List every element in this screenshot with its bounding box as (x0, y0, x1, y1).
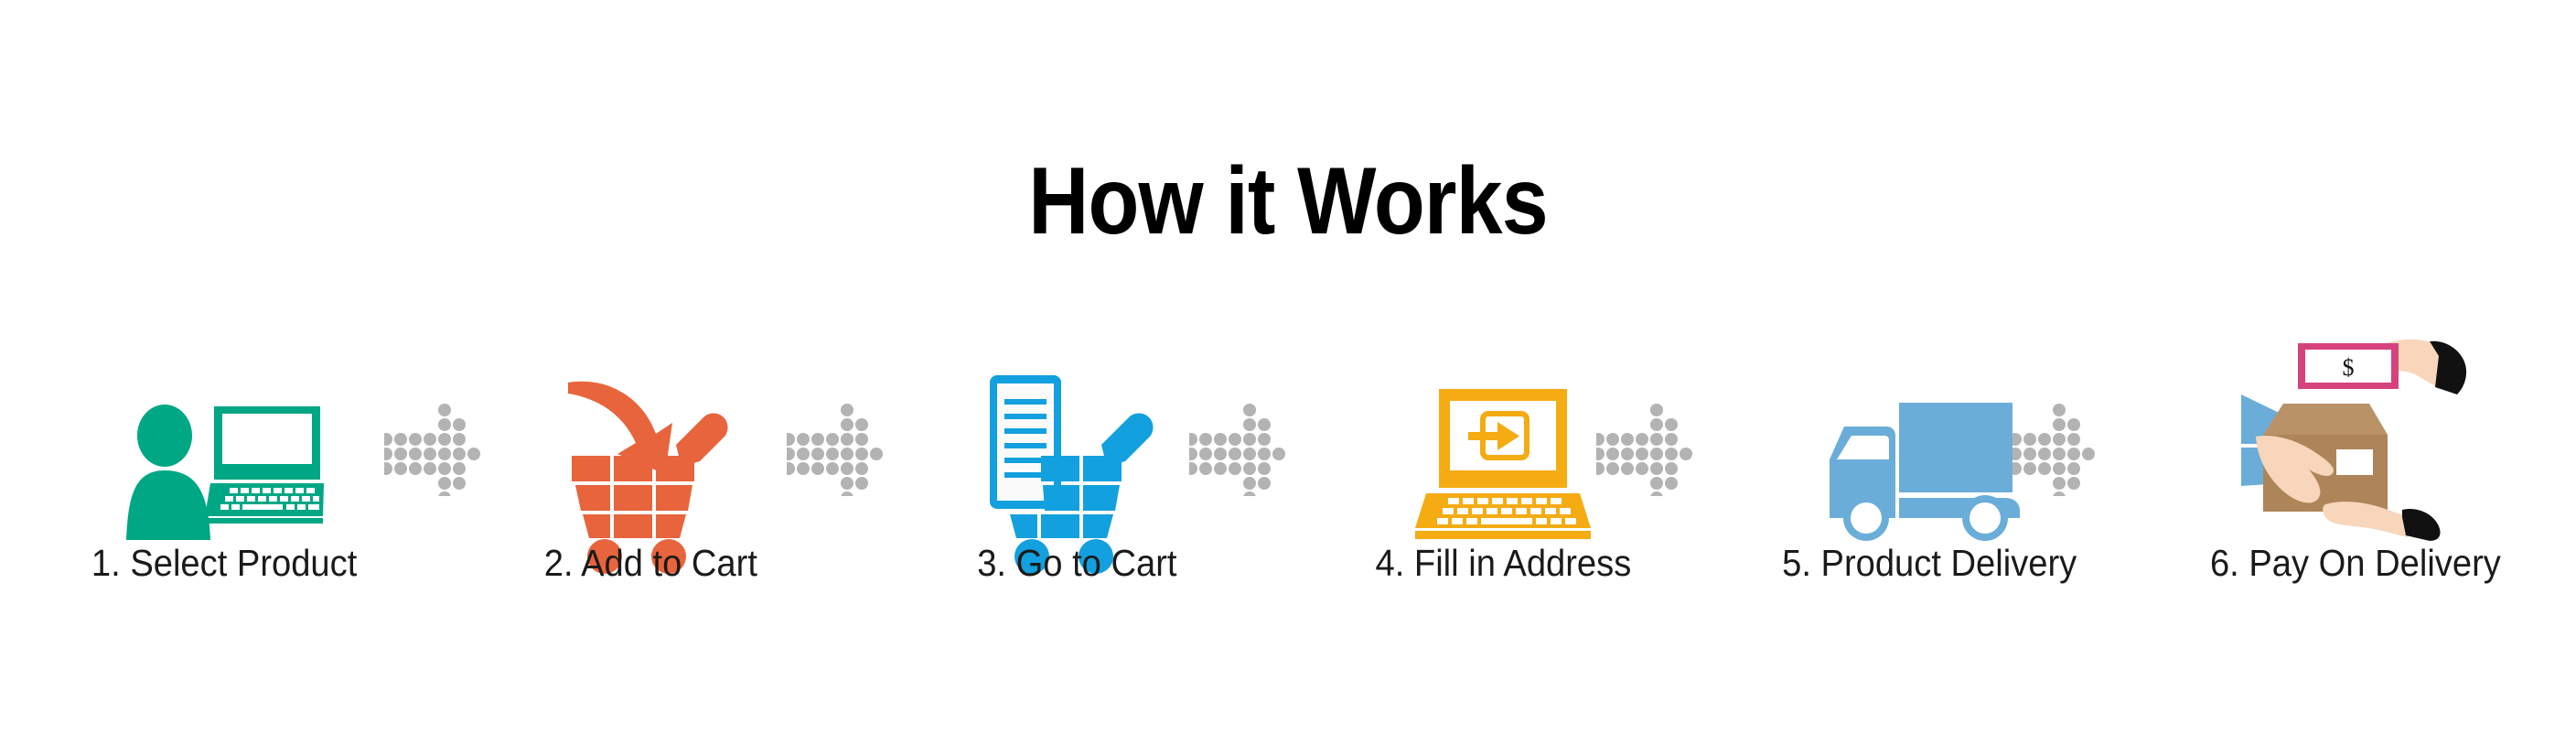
money-note: $ (2298, 343, 2399, 389)
step-3-go-to-cart[interactable]: 3. Go to Cart (907, 302, 1246, 632)
step-2-add-to-cart[interactable]: 2. Add to Cart (481, 302, 820, 632)
step-2-label: 2. Add to Cart (543, 544, 757, 583)
step-3-label: 3. Go to Cart (977, 544, 1176, 583)
laptop-login-icon (1334, 302, 1672, 540)
money-dollar-symbol: $ (2343, 354, 2355, 381)
delivery-truck-icon (1760, 302, 2098, 540)
step-4-fill-in-address[interactable]: 4. Fill in Address (1334, 302, 1672, 632)
step-5-product-delivery[interactable]: 5. Product Delivery (1760, 302, 2098, 632)
step-6-label: 6. Pay On Delivery (2210, 544, 2501, 583)
hands-exchange-box-and-money-icon: $ (2186, 302, 2525, 540)
how-it-works-infographic: How it Works (0, 0, 2576, 745)
page-title: How it Works (155, 154, 2421, 249)
step-4-label: 4. Fill in Address (1375, 544, 1631, 583)
steps-row: 1. Select Product (55, 302, 2525, 632)
step-1-label: 1. Select Product (91, 544, 357, 583)
step-5-label: 5. Product Delivery (1782, 544, 2077, 583)
step-1-select-product[interactable]: 1. Select Product (55, 302, 393, 632)
cart-with-arrow-icon (481, 302, 820, 540)
step-6-pay-on-delivery[interactable]: $ (2186, 302, 2525, 632)
document-with-cart-icon (907, 302, 1246, 540)
person-at-laptop-icon (55, 302, 393, 540)
